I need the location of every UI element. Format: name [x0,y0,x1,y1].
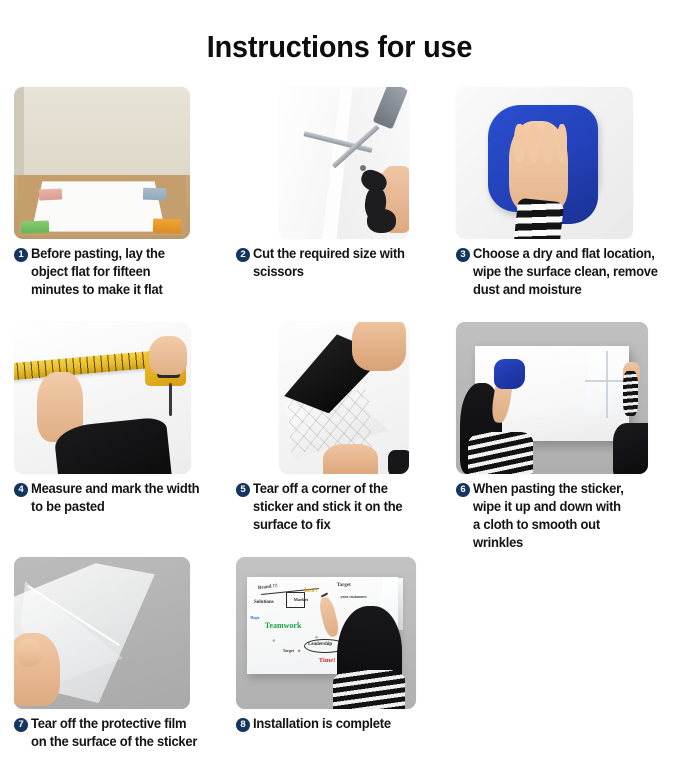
step-text-5: Tear off a corner of the sticker and sti… [253,480,402,533]
weight-book-orange [153,219,182,234]
photo-removing-protective-film [14,557,190,709]
hand-right [149,336,188,376]
step-item-1: 1 Before pasting, lay the object flat fo… [14,87,236,322]
person-left-striped-top [468,432,533,475]
step-number-badge-4: 4 [14,483,28,497]
step-caption-2: 2 Cut the required size with scissors [236,245,452,281]
note-market: Market [294,597,309,602]
finger [529,124,540,164]
note-target: Target [337,583,351,588]
note-teamwork: Teamwork [265,621,302,630]
step-text-7: Tear off the protective film on the surf… [31,715,197,751]
photo-applying-board-to-wall [456,322,648,474]
weight-book-green [21,220,50,233]
finger [514,124,525,164]
finger [557,124,568,164]
step-item-7: 7 Tear off the protective film on the su… [14,557,236,760]
step-text-8: Installation is complete [253,715,391,733]
note-customers: your customers [340,594,366,599]
step-number-badge-7: 7 [14,718,28,732]
step-item-6: 6 When pasting the sticker, wipe it up a… [456,322,679,557]
note-leadership: Leadership [308,642,332,647]
step-item-4: 4 Measure and mark the width to be paste… [14,322,236,557]
note-time: Time! [319,657,336,664]
step-text-4: Measure and mark the width to be pasted [31,480,199,516]
note-target-secondary: Target [283,648,294,653]
tape-measure-strap [169,383,172,416]
step-number-badge-5: 5 [236,483,250,497]
step-number-badge-1: 1 [14,248,28,262]
step-caption-1: 1 Before pasting, lay the object flat fo… [14,245,232,298]
woman-striped-top [333,670,405,710]
weight-book-pink [38,188,61,200]
weight-book-blue [142,187,165,200]
step-number-badge-3: 3 [456,248,470,262]
step-caption-5: 5 Tear off a corner of the sticker and s… [236,480,452,533]
wall-background [14,87,190,178]
scissor-thumb-grip [367,209,396,233]
photo-wiping-wall-with-cloth [456,87,633,239]
page-title: Instructions for use [24,21,655,67]
step-number-badge-6: 6 [456,483,470,497]
step-item-5: 5 Tear off a corner of the sticker and s… [236,322,456,557]
step-caption-8: 8 Installation is complete [236,715,452,733]
person-right-arm [623,371,638,417]
step-item-8: Brand !!! Solutions Market how? Target y… [236,557,456,760]
thumb [16,639,42,666]
step-number-badge-8: 8 [236,718,250,732]
step-text-3: Choose a dry and flat location, wipe the… [473,245,658,298]
window-mullion-vertical [606,351,608,418]
blue-cloth [494,359,525,389]
step-text-6: When pasting the sticker, wipe it up and… [473,480,624,551]
photo-finished-whiteboard: Brand !!! Solutions Market how? Target y… [236,557,416,709]
note-hope: Hope [250,615,259,620]
finger [543,124,554,164]
hand-upper [352,322,407,371]
step-caption-7: 7 Tear off the protective film on the su… [14,715,232,751]
step-item-2: 2 Cut the required size with scissors [236,87,456,322]
wall-edge [14,87,24,181]
step-number-badge-2: 2 [236,248,250,262]
hand-lower [323,444,378,474]
step-caption-4: 4 Measure and mark the width to be paste… [14,480,232,516]
photo-peeling-sticker-corner [279,322,409,474]
note-solutions: Solutions [254,600,274,605]
photo-desk-with-flat-sheet [14,87,190,239]
instruction-steps-grid: 1 Before pasting, lay the object flat fo… [0,87,679,760]
person-right-body [613,423,648,475]
photo-measuring-with-tape [14,322,191,474]
step-text-1: Before pasting, lay the object flat for … [31,245,165,298]
step-caption-6: 6 When pasting the sticker, wipe it up a… [456,480,679,551]
step-caption-3: 3 Choose a dry and flat location, wipe t… [456,245,679,298]
step-text-2: Cut the required size with scissors [253,245,405,281]
black-cuff [388,450,409,474]
step-item-3: 3 Choose a dry and flat location, wipe t… [456,87,679,322]
note-how: how? [304,588,318,594]
striped-sleeve [514,197,564,239]
photo-cutting-with-scissors [279,87,409,239]
